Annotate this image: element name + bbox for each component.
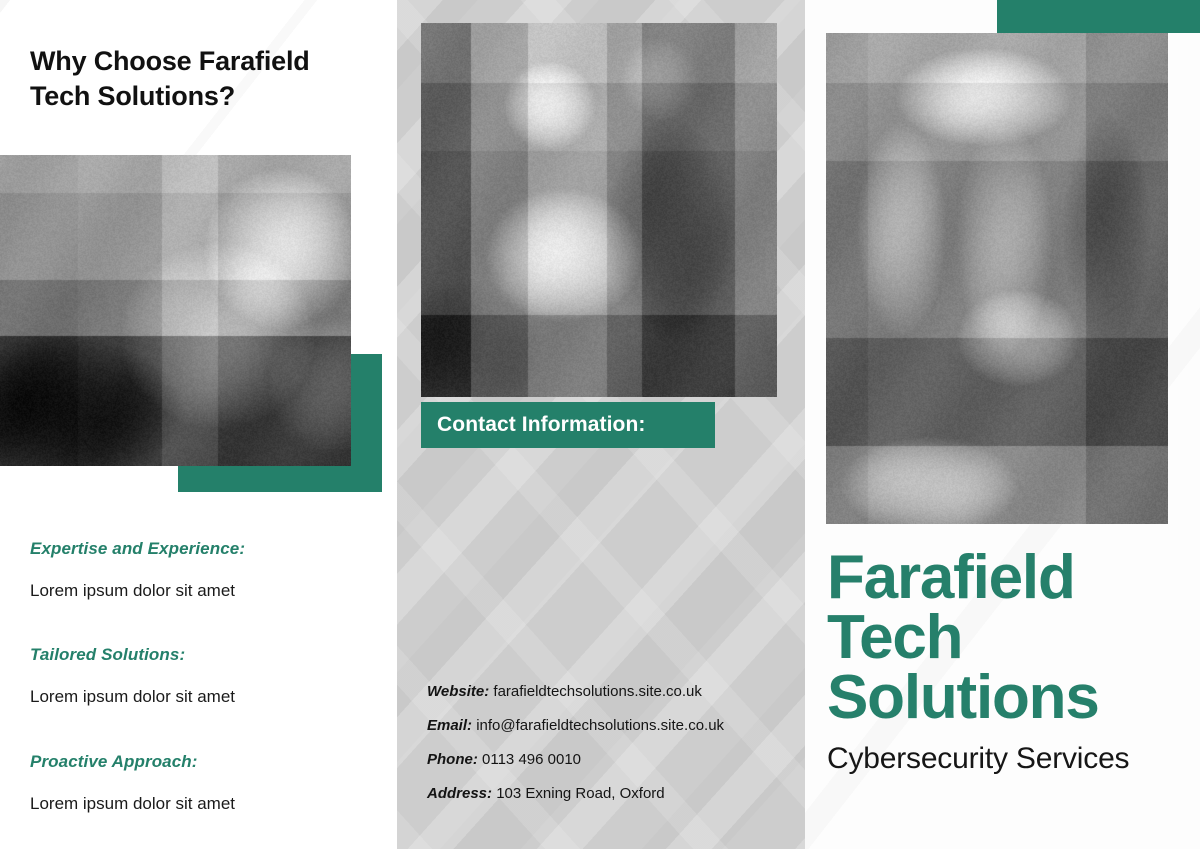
feature-body: Lorem ipsum dolor sit amet bbox=[30, 794, 375, 814]
brochure-page: Why Choose Farafield Tech Solutions? Exp… bbox=[0, 0, 1200, 849]
contact-value: 0113 496 0010 bbox=[482, 751, 581, 768]
contact-value: 103 Exning Road, Oxford bbox=[496, 785, 664, 802]
contact-row-website: Website: farafieldtechsolutions.site.co.… bbox=[427, 683, 797, 700]
photo-woman-with-laptop bbox=[0, 155, 351, 466]
photo-two-colleagues bbox=[421, 23, 777, 397]
feature-body: Lorem ipsum dolor sit amet bbox=[30, 581, 375, 601]
brand-name-line: Tech bbox=[827, 608, 1187, 668]
contact-label: Phone: bbox=[427, 751, 478, 768]
contact-row-phone: Phone: 0113 496 0010 bbox=[427, 751, 797, 768]
feature-title: Proactive Approach: bbox=[30, 752, 375, 772]
feature-item: Tailored Solutions: Lorem ipsum dolor si… bbox=[30, 645, 375, 707]
feature-body: Lorem ipsum dolor sit amet bbox=[30, 687, 375, 707]
top-right-accent-block bbox=[997, 0, 1200, 33]
contact-banner-label: Contact Information: bbox=[421, 413, 645, 437]
contact-label: Website: bbox=[427, 683, 489, 700]
contact-row-address: Address: 103 Exning Road, Oxford bbox=[427, 785, 797, 802]
contact-label: Address: bbox=[427, 785, 492, 802]
contact-label: Email: bbox=[427, 717, 472, 734]
feature-item: Proactive Approach: Lorem ipsum dolor si… bbox=[30, 752, 375, 814]
brand-tagline: Cybersecurity Services bbox=[827, 742, 1187, 776]
contact-details-list: Website: farafieldtechsolutions.site.co.… bbox=[427, 683, 797, 819]
contact-row-email: Email: info@farafieldtechsolutions.site.… bbox=[427, 717, 797, 734]
feature-title: Tailored Solutions: bbox=[30, 645, 375, 665]
contact-value: info@farafieldtechsolutions.site.co.uk bbox=[476, 717, 724, 734]
feature-title: Expertise and Experience: bbox=[30, 539, 375, 559]
brand-name-line: Solutions bbox=[827, 668, 1187, 728]
brand-block: Farafield Tech Solutions Cybersecurity S… bbox=[827, 548, 1187, 776]
contact-information-banner: Contact Information: bbox=[421, 402, 715, 448]
contact-value: farafieldtechsolutions.site.co.uk bbox=[493, 683, 701, 700]
feature-item: Expertise and Experience: Lorem ipsum do… bbox=[30, 539, 375, 601]
page-title: Why Choose Farafield Tech Solutions? bbox=[30, 44, 375, 113]
photo-three-women-office bbox=[826, 33, 1168, 524]
brand-name-line: Farafield bbox=[827, 548, 1187, 608]
